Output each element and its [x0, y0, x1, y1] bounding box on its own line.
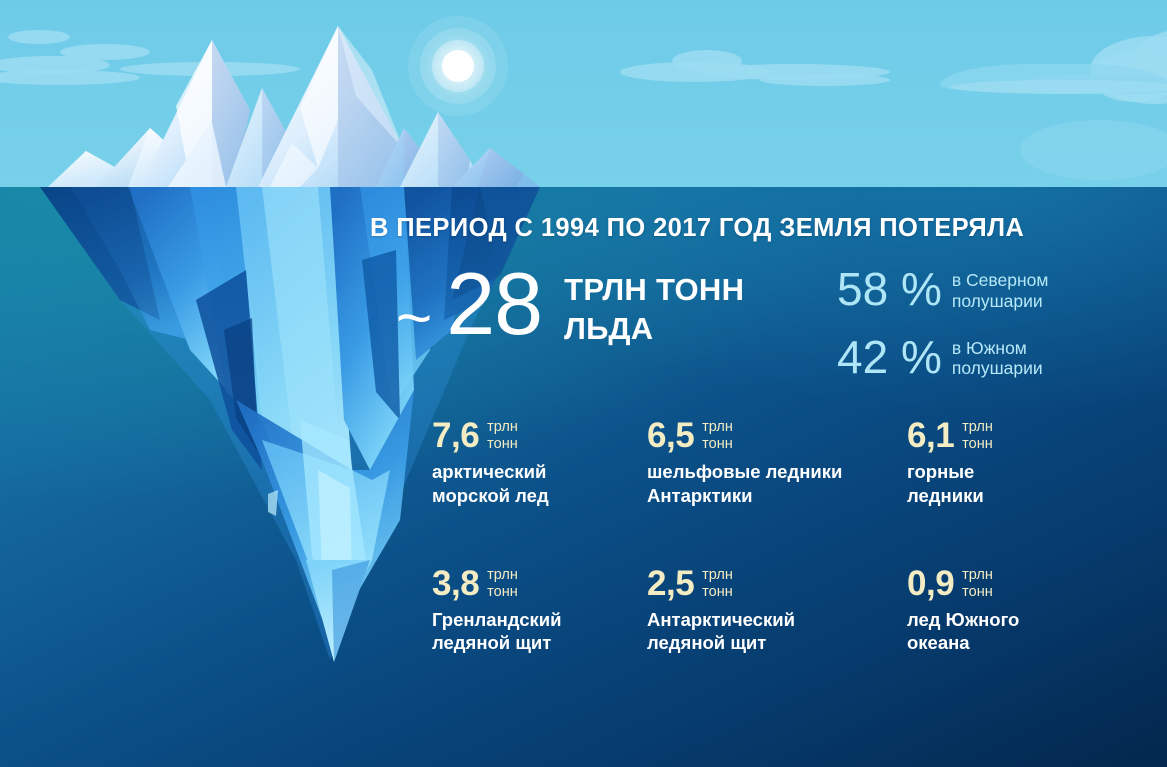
- stat-item-antarctic-ice-sheet: 2,5 трлн тонн Антарктический ледяной щит: [647, 566, 907, 656]
- cloud-icon: [0, 70, 140, 85]
- stat-unit-line2: тонн: [702, 436, 733, 452]
- hemisphere-south-label-line1: в Южном: [952, 338, 1027, 358]
- stat-unit: трлн тонн: [702, 419, 733, 453]
- cloud-icon: [760, 74, 890, 86]
- ice-loss-breakdown-grid: 7,6 трлн тонн арктический морской лед 6,…: [432, 418, 1132, 655]
- stat-unit-line2: тонн: [487, 436, 518, 452]
- stat-unit-line2: тонн: [962, 584, 993, 600]
- stat-value-row: 2,5 трлн тонн: [647, 566, 907, 601]
- stat-description: арктический морской лед: [432, 460, 647, 507]
- stat-description-line1: лед Южного: [907, 609, 1019, 630]
- stat-unit-line1: трлн: [962, 419, 993, 435]
- cloud-icon: [1020, 120, 1167, 180]
- hemisphere-split: 58 % в Северном полушарии 42 % в Южном п…: [837, 268, 1048, 379]
- stat-unit: трлн тонн: [962, 419, 993, 453]
- stat-value-row: 6,1 трлн тонн: [907, 418, 1132, 453]
- stat-item-arctic-sea-ice: 7,6 трлн тонн арктический морской лед: [432, 418, 647, 508]
- stat-item-southern-ocean-ice: 0,9 трлн тонн лед Южного океана: [907, 566, 1132, 656]
- stat-unit-line1: трлн: [487, 419, 518, 435]
- hemisphere-south-label: в Южном полушарии: [952, 338, 1043, 379]
- approx-symbol: ~: [396, 288, 432, 350]
- stat-unit: трлн тонн: [487, 567, 518, 601]
- stat-description-line1: арктический: [432, 461, 546, 482]
- stat-description: Гренландский ледяной щит: [432, 608, 647, 655]
- stat-description-line1: горные: [907, 461, 974, 482]
- stat-value: 2,5: [647, 566, 694, 601]
- stat-unit-line1: трлн: [487, 567, 518, 583]
- stat-description-line2: океана: [907, 632, 970, 653]
- stat-description: шельфовые ледники Антарктики: [647, 460, 907, 507]
- stat-description-line2: морской лед: [432, 485, 549, 506]
- hemisphere-north-row: 58 % в Северном полушарии: [837, 268, 1048, 312]
- total-ice-unit: ТРЛН ТОНН ЛЬДА: [564, 271, 744, 349]
- stat-description-line2: ледники: [907, 485, 984, 506]
- total-ice-unit-line1: ТРЛН ТОНН: [564, 272, 744, 307]
- stat-description-line1: Антарктический: [647, 609, 795, 630]
- hemisphere-north-label: в Северном полушарии: [952, 270, 1049, 311]
- cloud-icon: [8, 30, 70, 44]
- stat-description-line2: ледяной щит: [647, 632, 766, 653]
- hemisphere-south-row: 42 % в Южном полушарии: [837, 336, 1048, 380]
- sky-background: [0, 0, 1167, 187]
- hemisphere-north-label-line2: полушарии: [952, 291, 1043, 311]
- stat-description-line2: Антарктики: [647, 485, 753, 506]
- stat-description: лед Южного океана: [907, 608, 1132, 655]
- stat-value: 6,1: [907, 418, 954, 453]
- stat-value: 6,5: [647, 418, 694, 453]
- stat-unit-line2: тонн: [962, 436, 993, 452]
- stat-value: 3,8: [432, 566, 479, 601]
- hemisphere-south-label-line2: полушарии: [952, 358, 1043, 378]
- hemisphere-south-value: 42 %: [837, 336, 942, 380]
- total-ice-unit-line2: ЛЬДА: [564, 311, 653, 346]
- hemisphere-north-label-line1: в Северном: [952, 270, 1049, 290]
- stat-value-row: 0,9 трлн тонн: [907, 566, 1132, 601]
- stat-unit: трлн тонн: [962, 567, 993, 601]
- cloud-icon: [120, 62, 300, 76]
- stat-unit-line1: трлн: [702, 567, 733, 583]
- stat-value-row: 6,5 трлн тонн: [647, 418, 907, 453]
- stat-value-row: 3,8 трлн тонн: [432, 566, 647, 601]
- total-ice-value: 28: [446, 262, 542, 346]
- stat-description-line1: шельфовые ледники: [647, 461, 842, 482]
- stat-description: Антарктический ледяной щит: [647, 608, 907, 655]
- stat-unit: трлн тонн: [487, 419, 518, 453]
- stat-unit-line2: тонн: [487, 584, 518, 600]
- sun-icon: [408, 16, 508, 116]
- cloud-icon: [60, 44, 150, 60]
- stat-value: 0,9: [907, 566, 954, 601]
- stat-unit-line1: трлн: [702, 419, 733, 435]
- stat-description-line1: Гренландский: [432, 609, 562, 630]
- hemisphere-north-value: 58 %: [837, 268, 942, 312]
- stat-unit: трлн тонн: [702, 567, 733, 601]
- stat-description-line2: ледяной щит: [432, 632, 551, 653]
- cloud-icon: [950, 80, 1167, 94]
- infographic-canvas: В ПЕРИОД С 1994 ПО 2017 ГОД ЗЕМЛЯ ПОТЕРЯ…: [0, 0, 1167, 767]
- sun-core: [442, 50, 474, 82]
- stat-value-row: 7,6 трлн тонн: [432, 418, 647, 453]
- stat-item-antarctic-ice-shelves: 6,5 трлн тонн шельфовые ледники Антаркти…: [647, 418, 907, 508]
- page-title: В ПЕРИОД С 1994 ПО 2017 ГОД ЗЕМЛЯ ПОТЕРЯ…: [370, 214, 1024, 243]
- stat-description: горные ледники: [907, 460, 1132, 507]
- total-ice-loss-stat: ~ 28 ТРЛН ТОНН ЛЬДА: [396, 262, 744, 350]
- stat-item-mountain-glaciers: 6,1 трлн тонн горные ледники: [907, 418, 1132, 508]
- stat-unit-line2: тонн: [702, 584, 733, 600]
- stat-unit-line1: трлн: [962, 567, 993, 583]
- stat-item-greenland-ice-sheet: 3,8 трлн тонн Гренландский ледяной щит: [432, 566, 647, 656]
- stat-value: 7,6: [432, 418, 479, 453]
